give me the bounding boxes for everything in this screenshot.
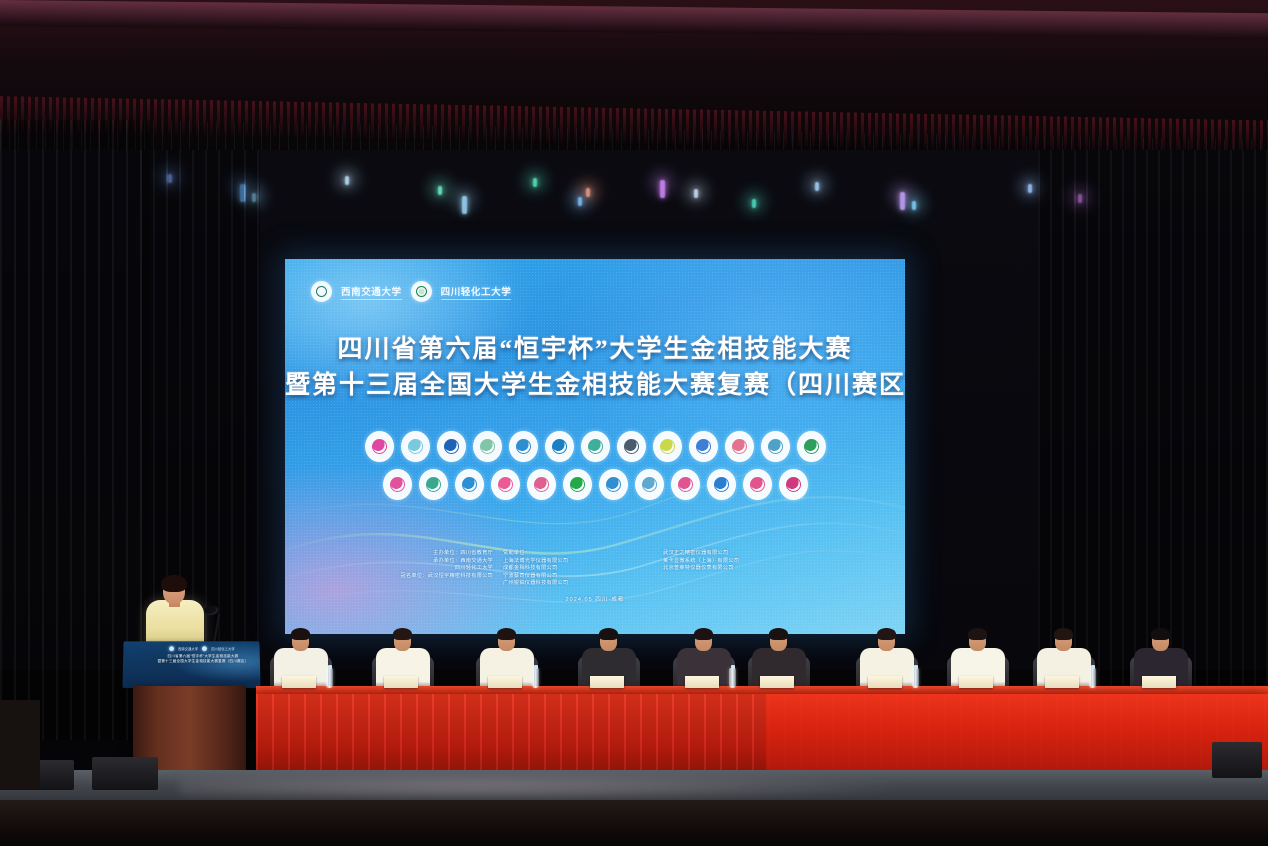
- podium-banner-title: 四川省第六届“恒宇杯”大学生金相技能大赛 暨第十三届全国大学生金相技能大赛复赛（…: [151, 654, 255, 665]
- event-date-location: 2024.05 四川·成都: [285, 595, 905, 603]
- stage-lamp-10: [660, 180, 665, 198]
- screen-credits-block: 主办单位：四川省教育厅承办单位：西南交通大学四川轻化工大学冠名单位：武汉恒宇精密…: [381, 550, 811, 588]
- participant-badge-23-icon: [707, 469, 736, 500]
- water-bottle: [1089, 668, 1096, 688]
- participant-badge-14-icon: [383, 469, 412, 500]
- host-speaker-hair: [161, 575, 187, 592]
- participant-badge-6-icon: [545, 431, 574, 462]
- stage-lamp-12: [752, 199, 756, 208]
- participant-badge-7-icon: [581, 431, 610, 462]
- participant-badge-2-icon: [401, 431, 430, 462]
- participant-badge-8-icon: [617, 431, 646, 462]
- credits-column-sponsors-a: 赞助单位：上海法博光学仪器有限公司成都金相科技有限公司宁波蔡司仪器有限公司广州锐…: [503, 550, 653, 588]
- panelist-4-hair: [599, 628, 618, 640]
- participant-badge-3-icon: [437, 431, 466, 462]
- participant-badge-11-icon: [725, 431, 754, 462]
- podium-banner-panel: 西南交通大学 四川轻化工大学 四川省第六届“恒宇杯”大学生金相技能大赛 暨第十三…: [122, 641, 260, 688]
- sp-c1-line-4: 冠名单位：武汉恒宇精密科技有限公司: [381, 573, 493, 581]
- credits-column-sponsors-b: 武汉正之精密仪器有限公司莱卡显微系统（上海）有限公司北京普莱特仪器仪表有限公司: [663, 550, 803, 588]
- stage-lamp-15: [912, 201, 916, 210]
- sp-c3-line-3: 北京普莱特仪器仪表有限公司: [663, 565, 803, 573]
- participant-badge-16-icon: [455, 469, 484, 500]
- stage-floor-light-pool: [180, 772, 920, 802]
- participant-badge-19-icon: [563, 469, 592, 500]
- floor-monitor-right: [1212, 742, 1262, 778]
- led-projection-screen: 西南交通大学 四川轻化工大学 四川省第六届“恒宇杯”大学生金相技能大赛 暨第十三…: [285, 259, 905, 634]
- sp-c2-line-5: 广州锐铂仪器科技有限公司: [503, 580, 653, 588]
- screen-logo-row: 西南交通大学 四川轻化工大学: [311, 281, 511, 302]
- auditorium-stage-photo: 西南交通大学 四川轻化工大学 四川省第六届“恒宇杯”大学生金相技能大赛 暨第十三…: [0, 0, 1268, 846]
- participant-badge-18-icon: [527, 469, 556, 500]
- sp-c3-line-1: 武汉正之精密仪器有限公司: [663, 550, 803, 558]
- panelist-3-hair: [497, 628, 516, 640]
- place-name-card: [488, 676, 522, 688]
- stage-lamp-11: [694, 189, 698, 198]
- participant-badge-25-icon: [779, 469, 808, 500]
- place-name-card: [1045, 676, 1079, 688]
- place-name-card: [685, 676, 719, 688]
- credits-column-organizers: 主办单位：四川省教育厅承办单位：西南交通大学四川轻化工大学冠名单位：武汉恒宇精密…: [381, 550, 493, 588]
- event-title-line-2: 暨第十三届全国大学生金相技能大赛复赛（四川赛区）: [285, 369, 905, 403]
- podium-banner-logos: 西南交通大学 四川轻化工大学: [169, 646, 235, 651]
- participant-badge-10-icon: [689, 431, 718, 462]
- stage-lamp-13: [815, 182, 819, 191]
- place-name-card: [384, 676, 418, 688]
- panelist-7-hair: [877, 628, 896, 640]
- participant-badge-12-icon: [761, 431, 790, 462]
- panelist-9-hair: [1054, 628, 1073, 640]
- participant-badge-13-icon: [797, 431, 826, 462]
- panelist-2-hair: [393, 628, 412, 640]
- podium-university-1-label: 西南交通大学: [178, 646, 198, 651]
- panelist-6-hair: [769, 628, 788, 640]
- university-emblem-2-icon: [411, 281, 432, 302]
- stage-apron-front: [0, 800, 1268, 846]
- stage-lamp-5: [438, 186, 442, 195]
- badge-row-1: [285, 431, 905, 462]
- floor-monitor-center: [92, 757, 158, 790]
- participant-badge-4-icon: [473, 431, 502, 462]
- sp-c2-line-1: 赞助单位：: [503, 550, 653, 558]
- participant-badge-1-icon: [365, 431, 394, 462]
- podium-university-2-label: 四川轻化工大学: [211, 646, 235, 651]
- sp-c1-line-3: 四川轻化工大学: [381, 565, 493, 573]
- podium-emblem-2-icon: [202, 646, 207, 651]
- participant-badge-grid: [285, 431, 905, 507]
- place-name-card: [760, 676, 794, 688]
- participant-badge-20-icon: [599, 469, 628, 500]
- participant-badge-22-icon: [671, 469, 700, 500]
- place-name-card: [282, 676, 316, 688]
- panelist-10-hair: [1151, 628, 1170, 640]
- university-2-label: 四川轻化工大学: [441, 284, 512, 300]
- place-name-card: [868, 676, 902, 688]
- participant-badge-24-icon: [743, 469, 772, 500]
- sp-c2-line-3: 成都金相科技有限公司: [503, 565, 653, 573]
- panelist-1-hair: [291, 628, 310, 640]
- podium-banner-line-2: 暨第十三届全国大学生金相技能大赛复赛（四川赛区）: [151, 659, 255, 664]
- water-bottle: [532, 668, 539, 688]
- water-bottle: [912, 668, 919, 688]
- podium-emblem-1-icon: [169, 646, 174, 651]
- stage-lamp-4: [345, 176, 349, 185]
- water-bottle: [729, 668, 736, 688]
- sp-c1-line-1: 主办单位：四川省教育厅: [381, 550, 493, 558]
- university-emblem-1-icon: [311, 281, 332, 302]
- participant-badge-15-icon: [419, 469, 448, 500]
- place-name-card: [959, 676, 993, 688]
- participant-badge-5-icon: [509, 431, 538, 462]
- stage-prop-left: [0, 700, 40, 790]
- participant-badge-17-icon: [491, 469, 520, 500]
- event-title-line-1: 四川省第六届“恒宇杯”大学生金相技能大赛: [285, 333, 905, 367]
- participant-badge-9-icon: [653, 431, 682, 462]
- stage-lamp-16: [1028, 184, 1032, 193]
- stage-lamp-7: [533, 178, 537, 187]
- water-bottle: [326, 668, 333, 688]
- panelist-5-hair: [694, 628, 713, 640]
- screen-title-block: 四川省第六届“恒宇杯”大学生金相技能大赛 暨第十三届全国大学生金相技能大赛复赛（…: [285, 333, 905, 403]
- place-name-card: [590, 676, 624, 688]
- panelist-8-hair: [968, 628, 987, 640]
- stage-lamp-9: [578, 197, 582, 206]
- stage-lamp-6: [462, 196, 467, 214]
- place-name-card: [1142, 676, 1176, 688]
- badge-row-2: [285, 469, 905, 500]
- participant-badge-21-icon: [635, 469, 664, 500]
- university-1-label: 西南交通大学: [341, 284, 402, 300]
